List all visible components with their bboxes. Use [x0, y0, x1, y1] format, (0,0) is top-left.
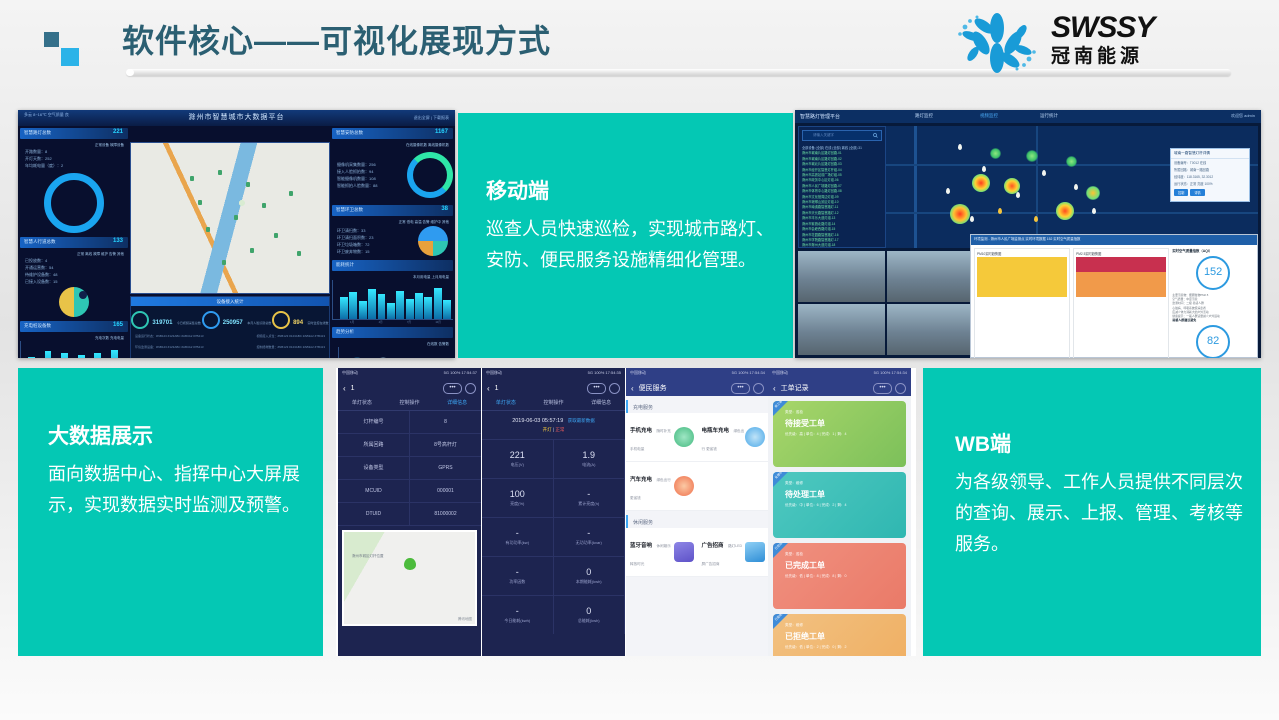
metric-label: 功率因数	[509, 579, 525, 585]
popup-detail-button[interactable]: 详情	[1190, 189, 1204, 196]
phone-screenshot-status: 中国移动 5G 100% 17:54:35 ‹ 1 ••• 单灯状态 控制操作 …	[482, 368, 625, 656]
back-icon[interactable]: ‹	[487, 384, 490, 393]
aqi-main-value: 152	[1196, 256, 1230, 290]
stats-row: 319701 今日视频采集总数 250957 本月人脸识别总数 894 实时监控…	[131, 306, 329, 329]
tab-control[interactable]: 控制操作	[530, 396, 578, 410]
map-pin-icon	[404, 558, 416, 570]
card-subtitle: 优先级：低 | 单位：8 | 完成：8 | 剩：0	[785, 574, 906, 579]
area-chart-trend	[338, 347, 453, 358]
stat-label: 今日视频采集总数	[177, 321, 201, 325]
gis-nav-item-2[interactable]: 运行统计	[1040, 113, 1058, 119]
metric-label: 有功功率(kw)	[505, 540, 529, 546]
metric-cell: 0 总能耗(kwh)	[554, 595, 626, 634]
gis-tree-list[interactable]: 全部设备 (全部) 在线 (全部) 离线 (全部) 31 滁州市城南片区路灯回路…	[799, 144, 885, 251]
energy-chart-xticks: 1月4月7月10月	[332, 320, 453, 324]
phone-statusbar: 中国移动 5G 100% 17:54:34	[768, 368, 911, 380]
stats-title: 设备接入统计	[131, 297, 329, 306]
metric-label: 无功功率(kvar)	[576, 540, 602, 546]
aqi-main-emphasis: 易感人群建议避免	[1172, 318, 1254, 322]
popup-control-button[interactable]: 控制	[1174, 189, 1188, 196]
bar-chart-charging	[20, 341, 128, 358]
gis-navbar: 智慧路灯管理平台 路灯监控 视频监控 运行统计 欢迎您 admin	[795, 110, 1261, 123]
panel-bigdata-description: 大数据展示 面向数据中心、指挥中心大屏展示，实现数据实时监测及预警。	[18, 368, 323, 656]
card-title: 已完成工单	[785, 560, 906, 571]
metric-label: 本期能耗(kwh)	[576, 579, 602, 585]
metric-cell: 221 电压(V)	[482, 439, 554, 478]
phone-title: 1	[351, 385, 443, 392]
page-title: 软件核心——可视化展现方式	[122, 16, 551, 62]
search-icon	[873, 133, 878, 138]
table-row: 所属回路 8号高杆灯	[338, 434, 481, 457]
aqi-block: 实时空气质量指数（AQI） 152 主要污染物：细颗粒物PM2.5 空气质量：中…	[1172, 248, 1254, 358]
section-kv-3: 智能抓拍人脸数量：88	[332, 182, 407, 189]
bigscreen-section-header: 趋势分析	[332, 327, 453, 338]
metric-cell: 0 本期能耗(kwh)	[554, 556, 626, 595]
water-droplet-flower-icon	[951, 12, 1043, 74]
video-tile[interactable]	[887, 251, 974, 302]
target-icon[interactable]	[609, 383, 620, 394]
popup-title: 城南一路智慧灯杆详情	[1171, 149, 1249, 159]
back-icon[interactable]: ‹	[773, 384, 776, 393]
stats-footer-row: 设备运行状态：#NB123 #123ABC #AB3A2 #7B413 视频接入…	[131, 329, 329, 340]
bigscreen-left-column: 智慧路灯总数 221 正常设备 故障设备 开路数量：8 开灯天数：252 年均耗…	[20, 128, 128, 356]
metric-value: -	[516, 567, 519, 577]
card-title: 已拒绝工单	[785, 631, 906, 642]
pie-chart-sanitation	[413, 225, 453, 257]
car-charge-icon	[674, 476, 694, 496]
section-value: 133	[113, 238, 123, 244]
row-value: 8	[410, 411, 481, 433]
stats-title-bar: 设备接入统计	[131, 297, 329, 306]
row-key: MCUID	[338, 480, 410, 502]
gis-user-menu[interactable]: 欢迎您 admin	[1231, 113, 1255, 119]
bluetooth-speaker-icon	[674, 542, 694, 562]
stats-footer-row: 环境监测设备：#NB123 #123ABC #AB3A2 #7B413 控制终端…	[131, 340, 329, 351]
gis-heatmap[interactable]: 城南一路智慧灯杆详情 设备编号：T0012 在线 所属回路：城南一路回路 经纬度…	[886, 126, 1258, 248]
bigscreen-city-map	[130, 142, 330, 294]
brand-logo: SWSSY 冠南能源	[951, 8, 1221, 80]
panel-mobile-description: 移动端 巡查人员快速巡检，实现城市路灯、安防、便民服务设施精细化管理。	[458, 113, 793, 358]
table-row: DTUID 81000002	[338, 503, 481, 526]
metric-cell: 1.9 电流(A)	[554, 439, 626, 478]
card-pm10: PM10实时趋势图	[974, 248, 1070, 358]
video-tile[interactable]	[798, 251, 885, 302]
donut-chart-security	[407, 152, 453, 198]
metric-value: -	[587, 528, 590, 538]
service-item-phone-charge[interactable]: 手机充电 随时补充手机电量	[626, 413, 698, 462]
panel-bigdata-title: 大数据展示	[48, 420, 313, 450]
section-label: 能耗统计	[336, 262, 354, 268]
bigscreen-dashboard-screenshot: 多云 8~16℃ 空气质量 良 滁州市智慧城市大数据平台 退出全屏 | 下载报表…	[18, 110, 455, 358]
bigscreen-topright-links: 退出全屏 | 下载报表	[414, 115, 449, 121]
tab-lamp-status[interactable]: 单灯状态	[482, 396, 530, 410]
metric-value: 0	[586, 567, 591, 577]
aqi-second-value: 82	[1196, 325, 1230, 358]
card-meta: 类型：巡检	[785, 552, 906, 557]
gis-dashboard-screenshot: 智慧路灯管理平台 路灯监控 视频监控 运行统计 欢迎您 admin 请输入关键字…	[795, 110, 1261, 358]
carrier-label: 中国移动	[630, 370, 646, 380]
metric-value: 221	[510, 450, 525, 460]
metric-cell: - 今日能耗(kwh)	[482, 595, 554, 634]
phone-title: 1	[495, 385, 587, 392]
section-kv-0: 开路数量：8	[20, 148, 128, 155]
status-indicators: 5G 100% 17:54:34	[874, 370, 907, 380]
service-section-label: 充电服务	[626, 400, 769, 413]
pm25-plot	[1076, 257, 1166, 297]
phone-screenshot-workorders: 中国移动 5G 100% 17:54:34 ‹ 工单记录 ••• 新工单 类型：…	[768, 368, 911, 656]
stat-ring-icon	[202, 311, 220, 329]
panel-mobile-title: 移动端	[486, 175, 776, 205]
card-title: PM2.5实时趋势图	[1076, 251, 1166, 256]
gis-nav-item-0[interactable]: 路灯监控	[915, 113, 933, 119]
popup-row-0: 设备编号：T0012 在线	[1171, 159, 1249, 166]
metric-label: 总能耗(kwh)	[578, 618, 600, 624]
metric-label: 电压(V)	[511, 462, 524, 468]
service-row: 蓝牙音响 休闲娱乐 释放时光 广告招商 路灯LED屏广告招商	[626, 528, 769, 577]
bigscreen-section-header: 智慧环卫总数 38	[332, 205, 453, 216]
card-subtitle: 优先级：低 | 单位：2 | 完成：0 | 剩：2	[785, 645, 906, 650]
card-subtitle: 优先级：高 | 单位：4 | 完成：1 | 剩：4	[785, 432, 906, 437]
more-icon[interactable]: •••	[731, 383, 750, 394]
card-subtitle: 优先级：中 | 单位：6 | 完成：2 | 剩：4	[785, 503, 906, 508]
table-row: 灯杆编号 8	[338, 411, 481, 434]
stats-footer-3: 控制终端数量：#NB123 #123ABC #AB3A2 #7B413	[256, 344, 325, 351]
section-kv-0: 摄像机采集数量：256	[332, 161, 407, 168]
panel-web-body: 为各级领导、工作人员提供不同层次的查询、展示、上报、管理、考核等服务。	[955, 467, 1245, 560]
section-value: 165	[113, 322, 123, 328]
reading-timestamp: 2019-06-03 05:57:19 获取最新数据	[482, 411, 625, 427]
service-item-car-charge[interactable]: 汽车充电 绿色出行 更省钱	[626, 462, 698, 511]
bigscreen-section-header: 智慧路灯总数 221	[20, 128, 128, 139]
slide-header: 软件核心——可视化展现方式	[0, 0, 1279, 92]
row-value: 8号高杆灯	[410, 434, 481, 456]
service-item-empty	[698, 462, 770, 511]
section-kv-2: 智能摄像机数量：108	[332, 175, 407, 182]
row-value: GPRS	[410, 457, 481, 479]
phone-location-map[interactable]: 滁州市城区灯杆位置 腾讯地图	[342, 530, 477, 626]
brand-wordmark: SWSSY	[1051, 12, 1154, 44]
service-item-bluetooth-speaker[interactable]: 蓝牙音响 休闲娱乐 释放时光	[626, 528, 698, 577]
service-item-advertising[interactable]: 广告招商 路灯LED屏广告招商	[698, 528, 770, 577]
donut-chart-streetlight	[44, 173, 104, 233]
section-label: 趋势分析	[336, 329, 354, 335]
section-kv-1: 环卫清扫面积数：23	[332, 234, 413, 241]
back-icon[interactable]: ‹	[631, 384, 634, 393]
card-meta: 类型：维修	[785, 481, 906, 486]
gis-search-placeholder: 请输入关键字	[813, 133, 834, 138]
section-label: 智慧环卫总数	[336, 207, 363, 213]
bigscreen-right-column: 智慧安防总数 1167 在线摄像机数 离线摄像机数 摄像机采集数量：256 接入…	[332, 128, 453, 356]
service-section-label: 休闲服务	[626, 515, 769, 528]
panel-bigdata-body: 面向数据中心、指挥中心大屏展示，实现数据实时监测及预警。	[48, 459, 313, 521]
panel-web-description: WB端 为各级领导、工作人员提供不同层次的查询、展示、上报、管理、考核等服务。	[923, 368, 1261, 656]
row-key: DTUID	[338, 503, 410, 525]
phone-title: 便民服务	[639, 383, 731, 393]
brand-subtitle: 冠南能源	[1051, 44, 1154, 70]
bigscreen-center-column: 设备接入统计 319701 今日视频采集总数 250957 本月人脸识别总数 8…	[130, 128, 330, 356]
table-row: MCUID 000001	[338, 480, 481, 503]
gis-environment-window[interactable]: 环境监测 - 滁州市人民广场监测点 实时环境数据 152 实时空气质量指数 PM…	[970, 234, 1258, 358]
status-indicators: 5G 100% 17:54:34	[732, 370, 765, 380]
stat-label: 本月人脸识别总数	[247, 321, 271, 325]
video-tile[interactable]	[887, 304, 974, 355]
state-normal: 正常	[555, 427, 564, 432]
popup-row-2: 经纬度：118.3165, 32.3012	[1171, 173, 1249, 180]
map-place-label: 滁州市城区灯杆位置	[352, 554, 384, 559]
status-indicators: 5G 100% 17:54:35	[588, 370, 621, 380]
bigscreen-section-header: 智慧安防总数 1167	[332, 128, 453, 139]
phone-screenshot-detail: 中国移动 5G 100% 17:54:37 ‹ 1 ••• 单灯状态 控制操作 …	[338, 368, 481, 656]
section-label: 充电桩设备数	[24, 323, 51, 329]
section-kv-2: 待维护设备数：48	[20, 271, 128, 278]
target-icon[interactable]	[895, 383, 906, 394]
stat-ring-icon	[272, 311, 290, 329]
environment-window-title: 环境监测 - 滁州市人民广场监测点 实时环境数据 152 实时空气质量指数	[971, 235, 1257, 245]
more-icon[interactable]: •••	[443, 383, 462, 394]
row-value: 81000002	[410, 503, 481, 525]
table-row: 设备类型 GPRS	[338, 457, 481, 480]
card-meta: 类型：维修	[785, 623, 906, 628]
stat-label: 实时监控在线数	[308, 321, 329, 325]
stat-item: 319701 今日视频采集总数	[131, 311, 201, 329]
stat-value: 250957	[223, 320, 243, 326]
tab-details[interactable]: 详细信息	[577, 396, 625, 410]
row-value: 000001	[410, 480, 481, 502]
mobile-app-screenshots: 中国移动 5G 100% 17:54:37 ‹ 1 ••• 单灯状态 控制操作 …	[336, 368, 916, 656]
phone-screenshot-services: 中国移动 5G 100% 17:54:34 ‹ 便民服务 ••• 充电服务 手机…	[626, 368, 769, 656]
back-icon[interactable]: ‹	[343, 384, 346, 393]
card-pm25: PM2.5实时趋势图	[1073, 248, 1169, 358]
phone-navbar: ‹ 1 •••	[338, 380, 481, 396]
metric-value: 100	[510, 489, 525, 499]
bigscreen-section-header: 能耗统计	[332, 260, 453, 271]
metric-label: 今日能耗(kwh)	[504, 618, 530, 624]
ebike-charge-icon	[745, 427, 765, 447]
section-kv-1: 开通运营数：54	[20, 264, 128, 271]
metric-value: -	[516, 528, 519, 538]
metric-cell: - 有功功率(kw)	[482, 517, 554, 556]
service-row: 手机充电 随时补充手机电量 电瓶车充电 绿色出行 更省钱 汽车充电 绿色出行 更…	[626, 413, 769, 511]
popup-row-1: 所属回路：城南一路回路	[1171, 166, 1249, 173]
card-title: PM10实时趋势图	[977, 251, 1067, 256]
panel-mobile-body: 巡查人员快速巡检，实现城市路灯、安防、便民服务设施精细化管理。	[486, 214, 776, 276]
carrier-label: 中国移动	[342, 370, 358, 380]
pm10-plot	[977, 257, 1067, 297]
phone-navbar: ‹ 工单记录 •••	[768, 380, 911, 396]
service-name: 广告招商	[702, 543, 724, 549]
state-separator: |	[553, 427, 554, 432]
service-name: 汽车充电	[630, 477, 652, 483]
metric-cell: - 无功功率(kvar)	[554, 517, 626, 556]
metric-label: 亮度(%)	[510, 501, 524, 507]
list-item[interactable]: 滁州市滁州大道灯组-18	[802, 243, 882, 248]
phone-statusbar: 中国移动 5G 100% 17:54:35	[482, 368, 625, 380]
section-value: 38	[441, 206, 448, 212]
tab-control[interactable]: 控制操作	[386, 396, 434, 410]
section-kv-3: 环卫废弃物数：15	[332, 248, 413, 255]
refresh-link[interactable]: 获取最新数据	[568, 418, 595, 423]
row-key: 所属回路	[338, 434, 410, 456]
map-attribution: 腾讯地图	[458, 617, 472, 622]
gis-device-popup[interactable]: 城南一路智慧灯杆详情 设备编号：T0012 在线 所属回路：城南一路回路 经纬度…	[1170, 148, 1250, 202]
metric-value: -	[516, 606, 519, 616]
tab-details[interactable]: 详细信息	[433, 396, 481, 410]
tab-lamp-status[interactable]: 单灯状态	[338, 396, 386, 410]
bigscreen-section-header: 智慧人行道总数 133	[20, 237, 128, 248]
phone-tabs[interactable]: 单灯状态 控制操作 详细信息	[482, 396, 625, 411]
bigscreen-title: 滁州市智慧城市大数据平台	[18, 112, 455, 122]
row-key: 灯杆编号	[338, 411, 410, 433]
timestamp-value: 2019-06-03 05:57:19	[512, 418, 563, 424]
section-kv-1: 开灯天数：252	[20, 155, 128, 162]
decorative-squares-icon	[44, 28, 84, 68]
section-kv-0: 环卫清扫数：33	[332, 227, 413, 234]
target-icon[interactable]	[465, 383, 476, 394]
phone-tabs[interactable]: 单灯状态 控制操作 详细信息	[338, 396, 481, 411]
phone-statusbar: 中国移动 5G 100% 17:54:34	[626, 368, 769, 380]
metric-cell: 100 亮度(%)	[482, 478, 554, 517]
phone-statusbar: 中国移动 5G 100% 17:54:37	[338, 368, 481, 380]
target-icon[interactable]	[753, 383, 764, 394]
phone-navbar: ‹ 1 •••	[482, 380, 625, 396]
stat-value: 894	[293, 320, 303, 326]
card-title: 待接受工单	[785, 418, 906, 429]
stat-ring-icon	[131, 311, 149, 329]
section-value: 1167	[435, 129, 448, 135]
section-kv-1: 接入人脸抓拍数：94	[332, 168, 407, 175]
gis-nav-item-1[interactable]: 视频监控	[980, 113, 998, 119]
service-item-ebike-charge[interactable]: 电瓶车充电 绿色出行 更省钱	[698, 413, 770, 462]
work-order-card-pending-handle[interactable]: 处理中 类型：维修 待处理工单 优先级：中 | 单位：6 | 完成：2 | 剩：…	[773, 472, 906, 538]
work-order-card-pending-accept[interactable]: 新工单 类型：巡检 待接受工单 优先级：高 | 单位：4 | 完成：1 | 剩：…	[773, 401, 906, 467]
more-icon[interactable]: •••	[873, 383, 892, 394]
popup-row-3: 运行状态：正常 亮度 100%	[1171, 180, 1249, 187]
stat-item: 894 实时监控在线数	[272, 311, 328, 329]
section-kv-0: 已投放数：4	[20, 257, 128, 264]
stat-item: 250957 本月人脸识别总数	[202, 311, 272, 329]
card-title: 待处理工单	[785, 489, 906, 500]
bar-chart-energy	[332, 280, 453, 320]
section-label: 智慧人行道总数	[24, 239, 56, 245]
ad-board-icon	[745, 542, 765, 562]
section-value: 221	[113, 129, 123, 135]
metric-value: 1.9	[582, 450, 595, 460]
state-on: 开灯	[543, 427, 552, 432]
metric-label: 电流(A)	[582, 462, 595, 468]
phone-charge-icon	[674, 427, 694, 447]
stats-footer-2: 环境监测设备：#NB123 #123ABC #AB3A2 #7B413	[135, 344, 204, 351]
status-indicators: 5G 100% 17:54:37	[444, 370, 477, 380]
row-key: 设备类型	[338, 457, 410, 479]
work-order-card-completed[interactable]: 已完成 类型：巡检 已完成工单 优先级：低 | 单位：8 | 完成：8 | 剩：…	[773, 543, 906, 609]
metric-cell: - 功率因数	[482, 556, 554, 595]
stats-footer-1: 视频接入点位：#NB123 #123ABC #AB3A2 #7B413	[256, 333, 325, 340]
carrier-label: 中国移动	[486, 370, 502, 380]
work-order-card-rejected[interactable]: 已拒绝 类型：维修 已拒绝工单 优先级：低 | 单位：2 | 完成：0 | 剩：…	[773, 614, 906, 656]
bigscreen-section-header: 充电桩设备数 165	[20, 321, 128, 332]
gis-video-wall[interactable]	[798, 251, 974, 355]
metric-value: 0	[586, 606, 591, 616]
service-name: 电瓶车充电	[702, 428, 730, 434]
gis-brand: 智慧路灯管理平台	[800, 113, 840, 120]
carrier-label: 中国移动	[772, 370, 788, 380]
service-name: 蓝牙音响	[630, 543, 652, 549]
metric-cell: - 累计亮度(h)	[554, 478, 626, 517]
brand-text: SWSSY 冠南能源	[1051, 12, 1154, 70]
section-kv-2: 环卫垃圾箱数：72	[332, 241, 413, 248]
phone-title: 工单记录	[781, 383, 873, 393]
panel-web-title: WB端	[955, 428, 1245, 458]
section-label: 智慧安防总数	[336, 130, 363, 136]
section-kv-3: 已接入设备数：15	[20, 278, 128, 285]
card-meta: 类型：巡检	[785, 410, 906, 415]
metric-grid: 221 电压(V) 1.9 电流(A) 100 亮度(%) - 累计亮度(h) …	[482, 439, 625, 634]
lamp-state-row: 开灯 | 正常	[482, 427, 625, 439]
service-name: 手机充电	[630, 428, 652, 434]
video-tile[interactable]	[798, 304, 885, 355]
pie-chart-sidewalk	[53, 287, 95, 317]
more-icon[interactable]: •••	[587, 383, 606, 394]
gis-device-tree[interactable]: 请输入关键字 全部设备 (全部) 在线 (全部) 离线 (全部) 31 滁州市城…	[798, 126, 886, 248]
phone-navbar: ‹ 便民服务 •••	[626, 380, 769, 396]
section-label: 智慧路灯总数	[24, 130, 51, 136]
gis-search-input[interactable]: 请输入关键字	[802, 130, 882, 141]
section-kv-2: 年均耗电量（度）：2	[20, 162, 128, 169]
metric-value: -	[587, 489, 590, 499]
aqi-title: 实时空气质量指数（AQI）	[1172, 248, 1254, 253]
stats-footer-0: 设备运行状态：#NB123 #123ABC #AB3A2 #7B413	[135, 333, 204, 340]
stat-value: 319701	[152, 320, 172, 326]
aqi-main-note: 主要污染物：细颗粒物PM2.5 空气质量：中度污染 监测时间：二级 易感人群 心…	[1172, 293, 1254, 318]
bigscreen-stats-panel: 设备接入统计 319701 今日视频采集总数 250957 本月人脸识别总数 8…	[130, 296, 330, 358]
metric-label: 累计亮度(h)	[578, 501, 599, 507]
